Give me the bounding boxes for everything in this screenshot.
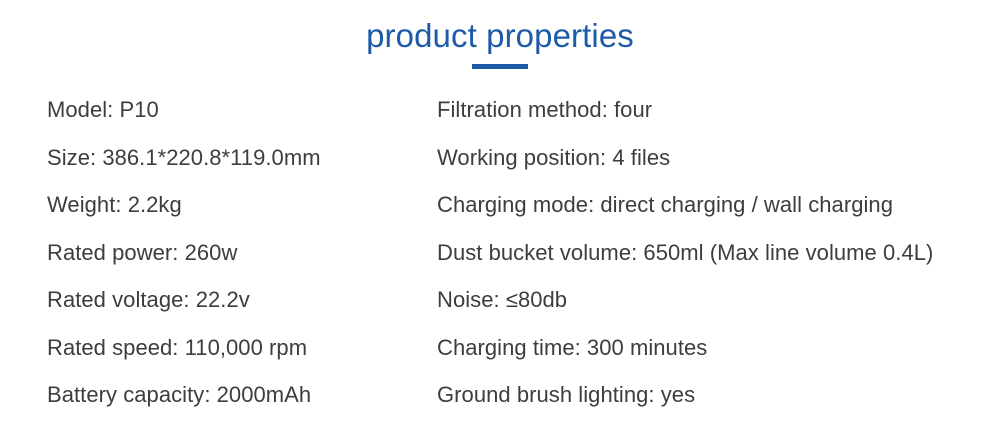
spec-column-right: Filtration method: four Working position… [437,96,1000,429]
spec-columns: Model: P10 Size: 386.1*220.8*119.0mm Wei… [0,96,1000,431]
spec-row: Dust bucket volume: 650ml (Max line volu… [437,239,1000,287]
spec-item-label: Size: 386.1*220.8*119.0mm [47,144,321,172]
spec-row: Working position: 4 files [437,144,1000,192]
spec-item-label: Weight: 2.2kg [47,191,182,219]
spec-row: Weight: 2.2kg [47,191,437,239]
spec-row: Rated speed: 110,000 rpm [47,334,437,382]
spec-item-label: Dust bucket volume: 650ml (Max line volu… [437,239,933,267]
spec-item-label: Filtration method: four [437,96,652,124]
spec-item-label: Charging time: 300 minutes [437,334,707,362]
title-underline-bar [472,64,528,69]
spec-row: Size: 386.1*220.8*119.0mm [47,144,437,192]
spec-row: Charging time: 300 minutes [437,334,1000,382]
page-title: product properties [0,16,1000,56]
spec-row: Battery capacity: 2000mAh [47,381,437,429]
spec-item-label: Rated power: 260w [47,239,237,267]
spec-item-label: Rated voltage: 22.2v [47,286,250,314]
spec-item-label: Ground brush lighting: yes [437,381,695,409]
spec-item-label: Noise: ≤80db [437,286,567,314]
spec-row: Ground brush lighting: yes [437,381,1000,429]
spec-item-label: Rated speed: 110,000 rpm [47,334,307,362]
product-spec-sheet: product properties Model: P10 Size: 386.… [0,0,1000,431]
spec-item-label: Model: P10 [47,96,159,124]
spec-row: Charging mode: direct charging / wall ch… [437,191,1000,239]
spec-row: Noise: ≤80db [437,286,1000,334]
spec-row: Model: P10 [47,96,437,144]
spec-row: Rated power: 260w [47,239,437,287]
spec-item-label: Charging mode: direct charging / wall ch… [437,191,893,219]
title-block: product properties [0,16,1000,69]
spec-row: Filtration method: four [437,96,1000,144]
spec-row: Rated voltage: 22.2v [47,286,437,334]
spec-item-label: Battery capacity: 2000mAh [47,381,311,409]
spec-item-label: Working position: 4 files [437,144,670,172]
spec-column-left: Model: P10 Size: 386.1*220.8*119.0mm Wei… [47,96,437,429]
